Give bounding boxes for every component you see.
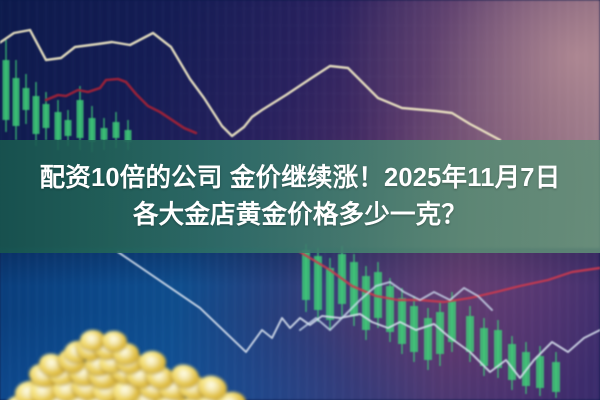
candlestick-body — [398, 298, 406, 344]
headline-line-1: 配资10倍的公司 金价继续涨！2025年11月7日 — [40, 160, 561, 196]
candlestick-body — [436, 312, 444, 354]
candlestick-body — [552, 362, 560, 392]
candlestick-body — [362, 276, 370, 330]
candlestick-body — [480, 328, 488, 366]
candlestick-body — [326, 268, 334, 320]
candlestick-body — [494, 330, 502, 368]
banner-image: 配资10倍的公司 金价继续涨！2025年11月7日 各大金店黄金价格多少一克？ — [0, 0, 600, 400]
candlestick-body — [508, 344, 516, 380]
headline-band: 配资10倍的公司 金价继续涨！2025年11月7日 各大金店黄金价格多少一克？ — [0, 140, 600, 253]
gold-coins-pile — [0, 330, 214, 400]
candlestick-body — [536, 356, 544, 388]
candlestick-body — [466, 316, 474, 352]
headline-line-2: 各大金店黄金价格多少一克？ — [133, 197, 467, 233]
